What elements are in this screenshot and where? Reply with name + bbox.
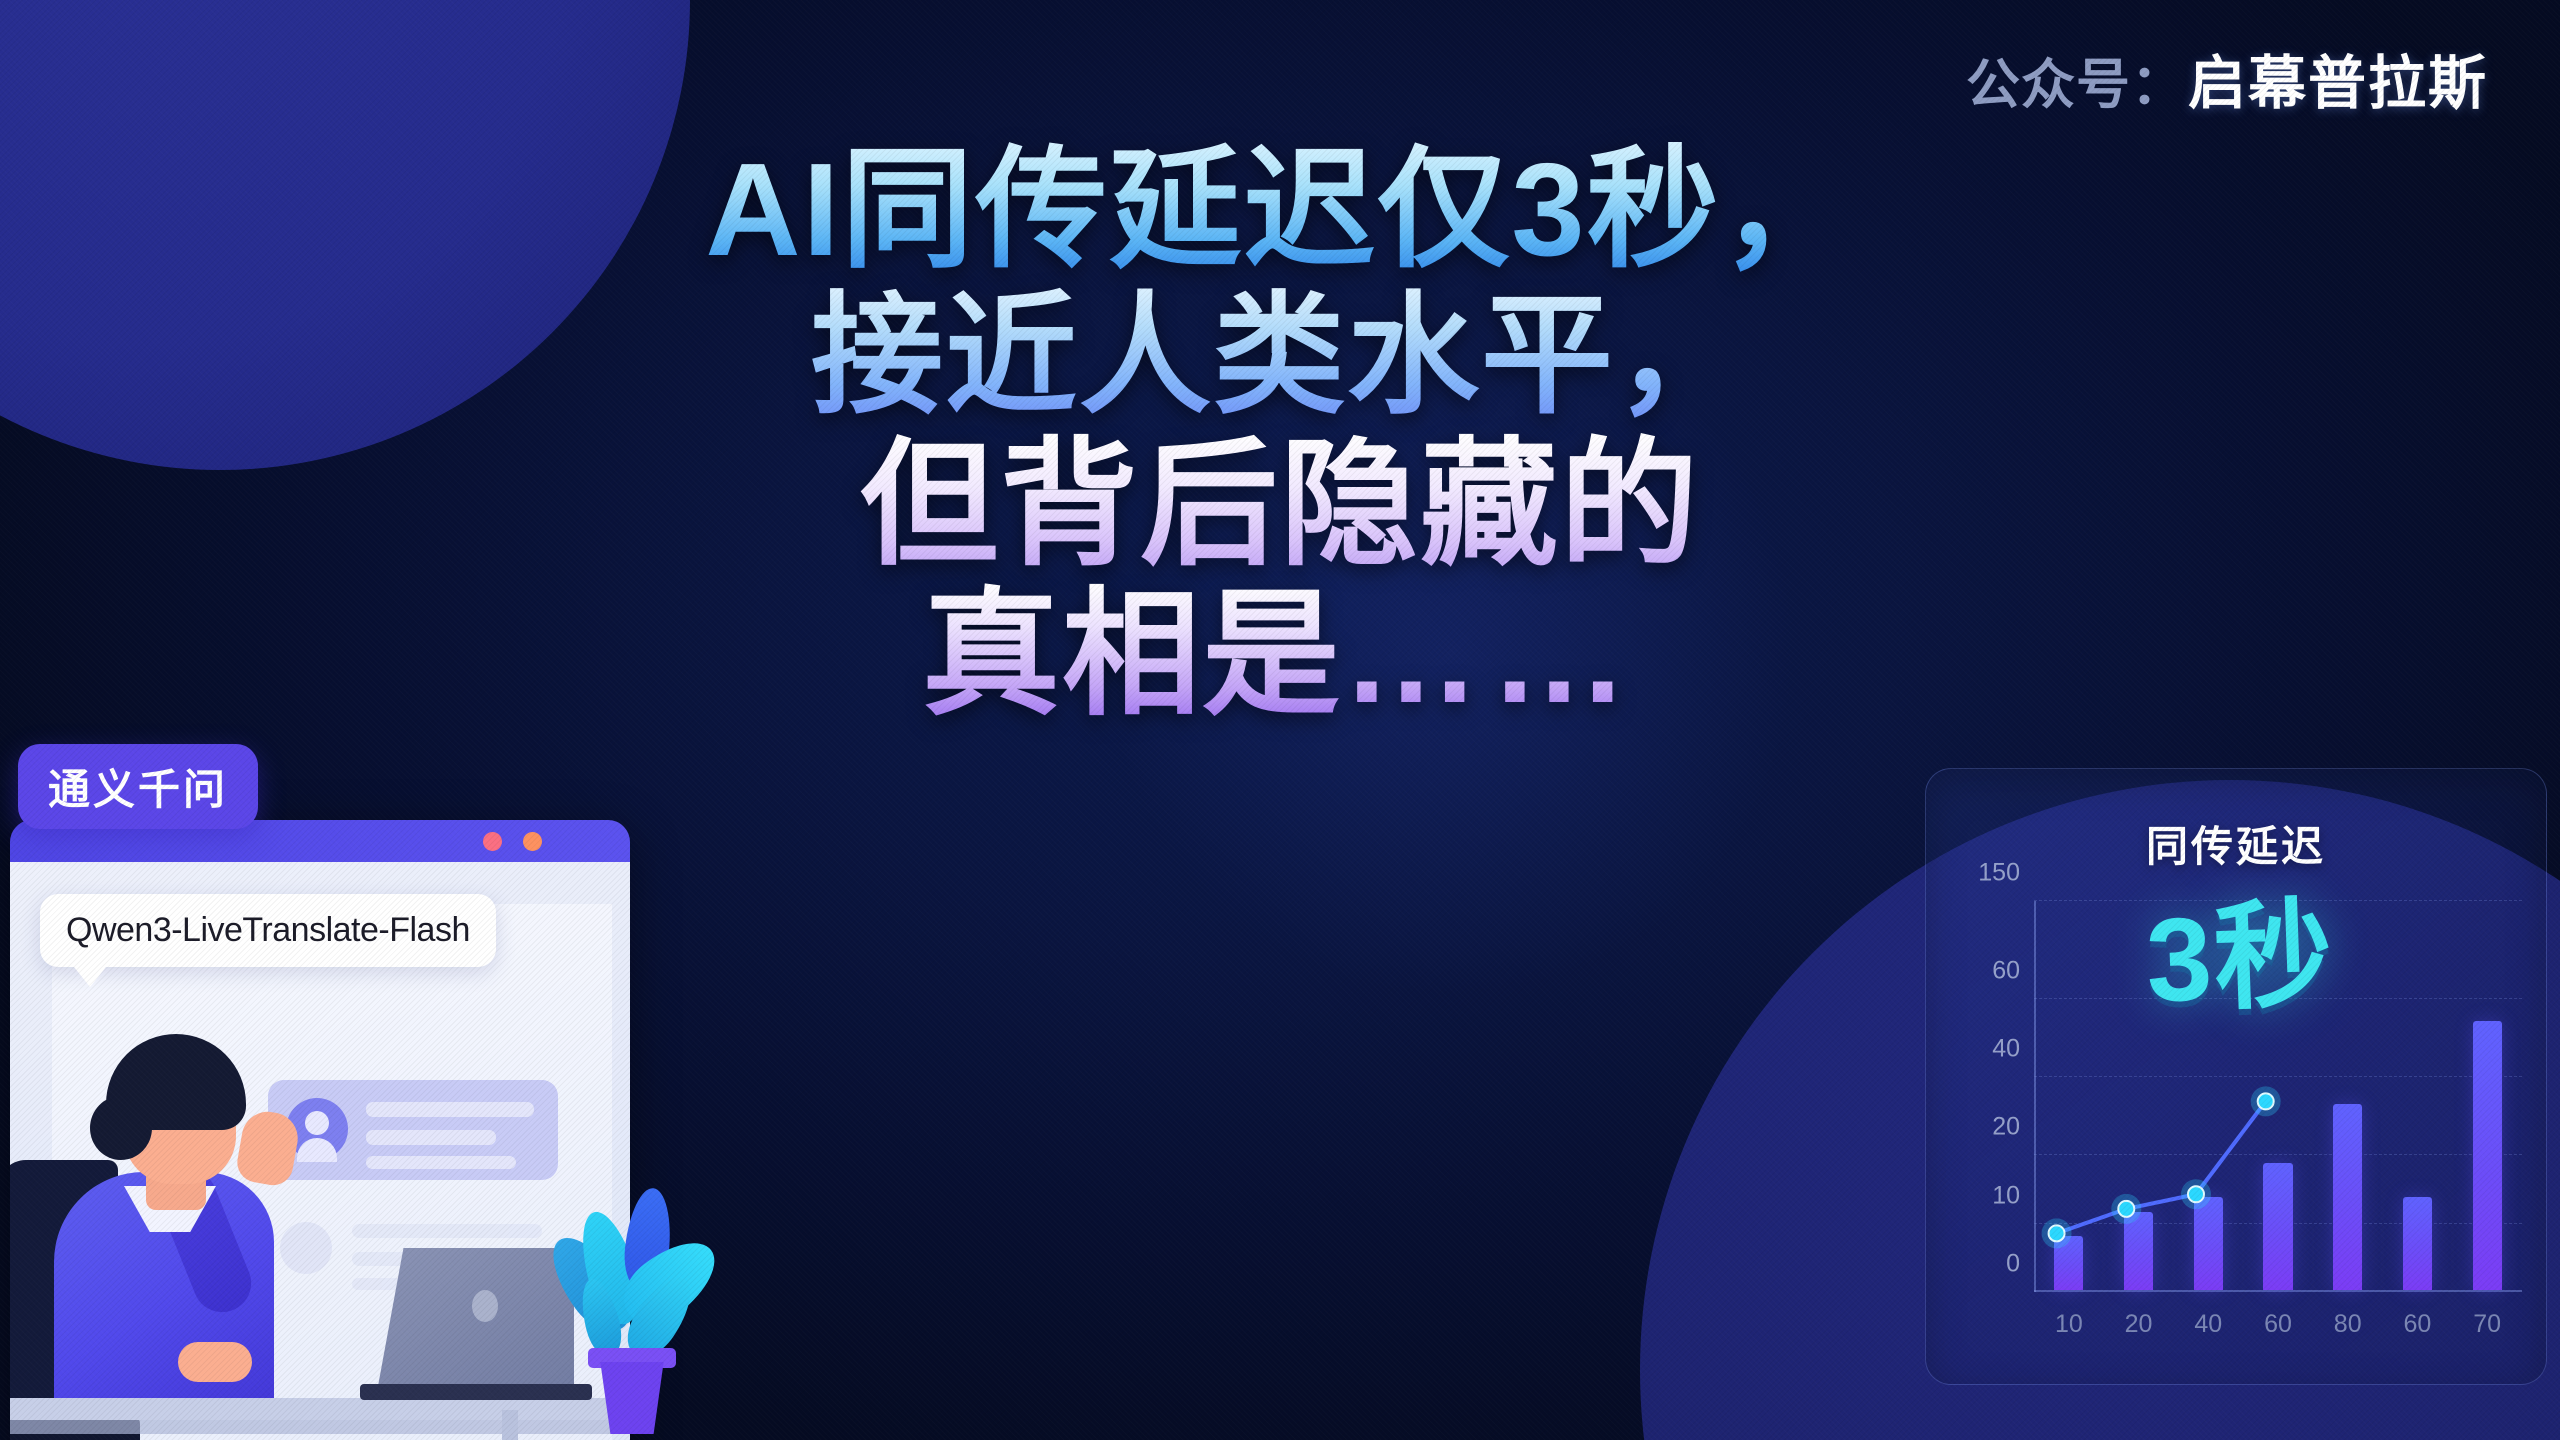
chart-x-tick-label: 20	[2125, 1310, 2153, 1339]
chart-x-tick-label: 70	[2473, 1310, 2501, 1339]
chart-y-tick-label: 60	[1992, 956, 2020, 985]
chat-line	[366, 1102, 534, 1117]
chat-line	[366, 1156, 516, 1169]
window-close-dot-icon	[483, 832, 502, 851]
chart-data-point	[2258, 1093, 2274, 1109]
chart-y-tick-label: 0	[2006, 1250, 2020, 1279]
chart-y-tick-label: 150	[1978, 859, 2020, 888]
chat-line	[352, 1224, 542, 1238]
laptop-logo-icon	[472, 1290, 498, 1322]
person-typing-hand	[178, 1342, 252, 1382]
desk-surface	[10, 1398, 630, 1420]
headline-block: AI同传延迟仅3秒， 接近人类水平， 但背后隐藏的 真相是……	[0, 140, 2560, 728]
chat-line	[366, 1130, 496, 1145]
account-prefix-label: 公众号：	[1966, 40, 2186, 119]
chart-y-tick-label: 40	[1992, 1034, 2020, 1063]
chart-x-tick-label: 80	[2334, 1310, 2362, 1339]
desk-edge	[10, 1418, 630, 1434]
chart-data-point	[2118, 1201, 2134, 1217]
chart-x-tick-label: 10	[2055, 1310, 2083, 1339]
chart-x-tick-label: 60	[2404, 1310, 2432, 1339]
chart-y-tick-label: 20	[1992, 1113, 2020, 1142]
chart-highlight-value: 3秒	[2143, 858, 2336, 1035]
account-name-label: 启幕普拉斯	[2188, 36, 2488, 120]
app-window-mock: Qwen3-LiveTranslate-Flash	[10, 820, 630, 1440]
headline-line-4: 真相是……	[0, 582, 2560, 728]
headline-line-2: 接近人类水平，	[0, 286, 2560, 426]
plant-pot	[596, 1362, 668, 1434]
person-illustration	[28, 1100, 358, 1440]
chart-data-point	[2188, 1186, 2204, 1202]
headline-line-4-text: 真相是	[922, 578, 1342, 732]
plant-illustration	[560, 1194, 700, 1434]
chart-x-tick-label: 40	[2194, 1310, 2222, 1339]
poster-canvas: 公众号： 启幕普拉斯 AI同传延迟仅3秒， 接近人类水平， 但背后隐藏的 真相是…	[0, 0, 2560, 1440]
headline-line-3: 但背后隐藏的	[0, 432, 2560, 578]
headline-line-1: AI同传延迟仅3秒，	[0, 140, 2560, 280]
chart-card: 同传延迟 15060402010010204060806070 3秒	[1925, 768, 2547, 1385]
headline-ellipsis: ……	[1342, 578, 1638, 732]
model-family-badge: 通义千问	[18, 744, 258, 829]
chart-x-tick-label: 60	[2264, 1310, 2292, 1339]
window-minimize-dot-icon	[523, 832, 542, 851]
illustration-scene: Qwen3-LiveTranslate-Flash 通义千问	[0, 780, 700, 1440]
chart-data-point	[2049, 1225, 2065, 1241]
account-header: 公众号： 启幕普拉斯	[1966, 36, 2488, 120]
laptop-base	[360, 1384, 592, 1400]
model-name-speech-bubble: Qwen3-LiveTranslate-Flash	[40, 894, 496, 967]
chart-y-tick-label: 10	[1992, 1181, 2020, 1210]
desk-leg	[502, 1410, 518, 1440]
person-raised-hand	[234, 1108, 302, 1189]
